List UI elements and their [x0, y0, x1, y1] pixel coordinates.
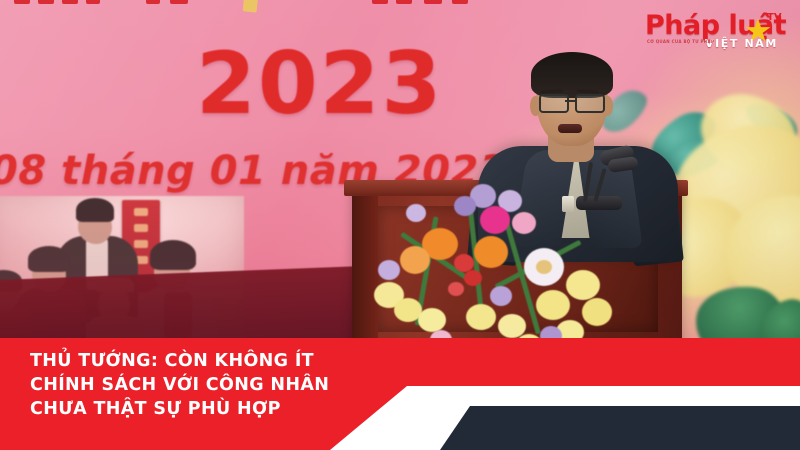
site-logo[interactable]: Pháp luật TV VIỆT NAM CƠ QUAN CỦA BỘ TƯ … — [645, 6, 795, 56]
headline: THỦ TƯỚNG: CÒN KHÔNG ÍT CHÍNH SÁCH VỚI C… — [30, 349, 360, 421]
news-thumbnail: 2023 08 tháng 01 năm 2023 — [0, 0, 800, 450]
flower-bouquet — [370, 186, 620, 350]
headline-line-3: CHƯA THẬT SỰ PHÙ HỢP — [30, 397, 360, 421]
glasses-lens-right-icon — [575, 94, 605, 113]
navy-accent-band — [440, 406, 800, 450]
headline-line-2: CHÍNH SÁCH VỚI CÔNG NHÂN — [30, 373, 360, 397]
logo-country: VIỆT NAM — [705, 37, 778, 50]
banner-year: 2023 — [196, 34, 443, 134]
logo-tv-suffix: TV — [767, 12, 782, 23]
logo-tagline: CƠ QUAN CỦA BỘ TƯ PHÁP — [647, 39, 714, 44]
headline-line-1: THỦ TƯỚNG: CÒN KHÔNG ÍT — [30, 349, 360, 373]
glasses-lens-left-icon — [539, 94, 569, 113]
glasses-bridge-icon — [565, 100, 575, 102]
speaker-mouth — [558, 124, 582, 133]
